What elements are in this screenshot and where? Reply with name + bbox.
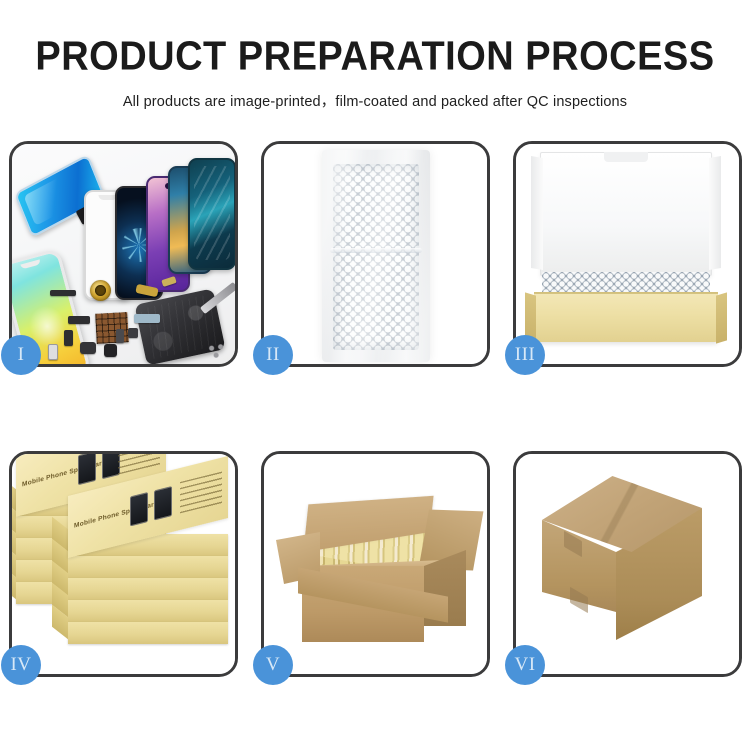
box-window-graphic bbox=[154, 486, 172, 520]
gold-coil-part bbox=[90, 280, 111, 301]
step-4-photo: Mobile Phone Spare Parts Mobile Phone Sp… bbox=[12, 454, 235, 674]
product-preparation-infographic: PRODUCT PREPARATION PROCESS All products… bbox=[0, 0, 750, 750]
step-5-photo bbox=[264, 454, 487, 674]
retail-box-side bbox=[68, 622, 228, 644]
retail-box-side bbox=[68, 556, 228, 578]
open-shipping-carton bbox=[274, 478, 474, 660]
spare-part bbox=[104, 344, 117, 357]
inner-box-lid-tab bbox=[604, 152, 648, 162]
spare-part bbox=[116, 329, 124, 343]
wave-pattern-phone bbox=[188, 158, 235, 270]
process-step-grid: I II III bbox=[9, 141, 742, 681]
step-2-photo bbox=[264, 144, 487, 364]
page-title: PRODUCT PREPARATION PROCESS bbox=[0, 36, 750, 77]
retail-box-side bbox=[68, 600, 228, 622]
step-panel-1[interactable]: I bbox=[9, 141, 238, 367]
box-window-graphic bbox=[130, 492, 148, 526]
inner-box-lid bbox=[540, 152, 712, 276]
step-panel-5[interactable]: V bbox=[261, 451, 490, 677]
page-subtitle: All products are image-printed，film-coat… bbox=[0, 90, 750, 111]
step-badge-3: III bbox=[505, 335, 545, 375]
step-panel-2[interactable]: II bbox=[261, 141, 490, 367]
box-spec-lines bbox=[180, 472, 222, 516]
box-window-graphic bbox=[78, 454, 96, 485]
spare-part bbox=[64, 330, 73, 346]
step-badge-1: I bbox=[1, 335, 41, 375]
step-badge-2: II bbox=[253, 335, 293, 375]
header: PRODUCT PREPARATION PROCESS All products… bbox=[0, 0, 750, 111]
sealed-shipping-carton bbox=[528, 476, 726, 656]
retail-box-side bbox=[68, 578, 228, 600]
spare-part bbox=[80, 342, 96, 354]
spare-part bbox=[128, 328, 138, 338]
spare-part bbox=[50, 290, 76, 296]
spare-part bbox=[68, 316, 90, 324]
spare-part bbox=[134, 314, 160, 323]
spare-part bbox=[48, 344, 58, 360]
bubble-wrap-bundle bbox=[322, 150, 430, 362]
step-panel-6[interactable]: VI bbox=[513, 451, 742, 677]
retail-box-stack: Mobile Phone Spare Parts Mobile Phone Sp… bbox=[16, 472, 232, 662]
step-1-photo bbox=[12, 144, 235, 364]
bubble-wrap-sheen bbox=[322, 150, 430, 362]
step-panel-3[interactable]: III bbox=[513, 141, 742, 367]
step-panel-4[interactable]: Mobile Phone Spare Parts Mobile Phone Sp… bbox=[9, 451, 238, 677]
step-6-photo bbox=[516, 454, 739, 674]
step-badge-6: VI bbox=[505, 645, 545, 685]
screws-group bbox=[208, 344, 226, 358]
step-3-photo bbox=[516, 144, 739, 364]
inner-box-front bbox=[534, 294, 718, 342]
step-badge-5: V bbox=[253, 645, 293, 685]
step-badge-4: IV bbox=[1, 645, 41, 685]
